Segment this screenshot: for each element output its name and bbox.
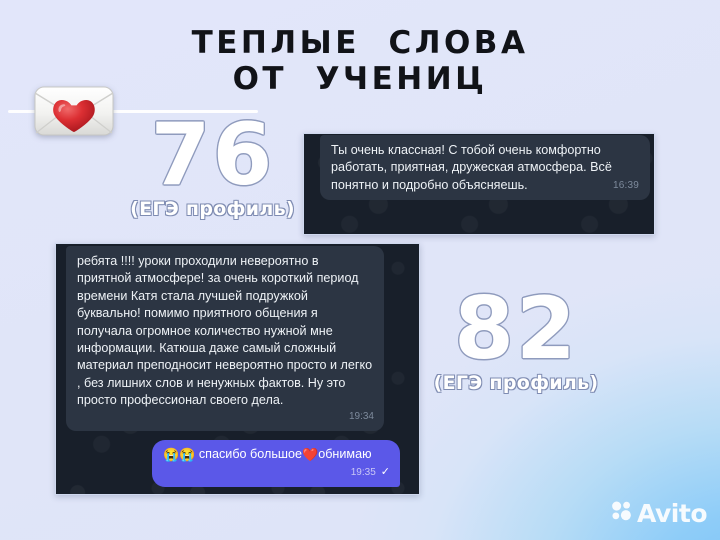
chat-screenshot-1: Ты очень классная! С тобой очень комфорт… bbox=[303, 133, 655, 235]
envelope-heart-icon bbox=[33, 83, 115, 139]
chat-bubble-meta: 19:35✓ bbox=[163, 464, 390, 481]
chat-bubble-timestamp: 19:34 bbox=[77, 408, 374, 425]
score-number: 82 bbox=[402, 286, 630, 372]
chat-bubble-outgoing: 😭😭 спасибо большое❤️обнимаю 19:35✓ bbox=[152, 440, 400, 487]
chat-bubble-timestamp: 19:35 bbox=[351, 467, 376, 478]
avito-watermark: Avito bbox=[611, 500, 707, 526]
reply-text-tail: обнимаю bbox=[318, 447, 371, 461]
score-block-76: 76 (ЕГЭ профиль) bbox=[105, 112, 320, 219]
score-number: 76 bbox=[105, 112, 320, 198]
chat-bubble-incoming: Ты очень классная! С тобой очень комфорт… bbox=[320, 135, 650, 200]
avito-dots-icon bbox=[611, 500, 632, 526]
title-line-1: ТЕПЛЫЕ СЛОВА bbox=[0, 26, 720, 62]
chat-bubble-text: Ты очень классная! С тобой очень комфорт… bbox=[331, 142, 640, 194]
reply-text-main: спасибо большое bbox=[199, 447, 302, 461]
chat-bubble-timestamp: 16:39 bbox=[613, 177, 639, 194]
chat-bubble-incoming: ребята !!!! уроки проходили невероятно в… bbox=[66, 246, 384, 431]
avito-wordmark: Avito bbox=[637, 501, 707, 526]
chat-screenshot-2: ребята !!!! уроки проходили невероятно в… bbox=[55, 243, 420, 495]
chat-bubble-text: ребята !!!! уроки проходили невероятно в… bbox=[77, 254, 372, 407]
check-icon: ✓ bbox=[381, 466, 390, 478]
chat-bubble-reply-text: 😭😭 спасибо большое❤️обнимаю bbox=[163, 447, 372, 461]
sob-emoji: 😭😭 bbox=[163, 447, 195, 462]
red-heart-emoji: ❤️ bbox=[302, 447, 318, 462]
score-block-82: 82 (ЕГЭ профиль) bbox=[402, 286, 630, 393]
score-caption: (ЕГЭ профиль) bbox=[402, 374, 630, 393]
score-caption: (ЕГЭ профиль) bbox=[105, 200, 320, 219]
